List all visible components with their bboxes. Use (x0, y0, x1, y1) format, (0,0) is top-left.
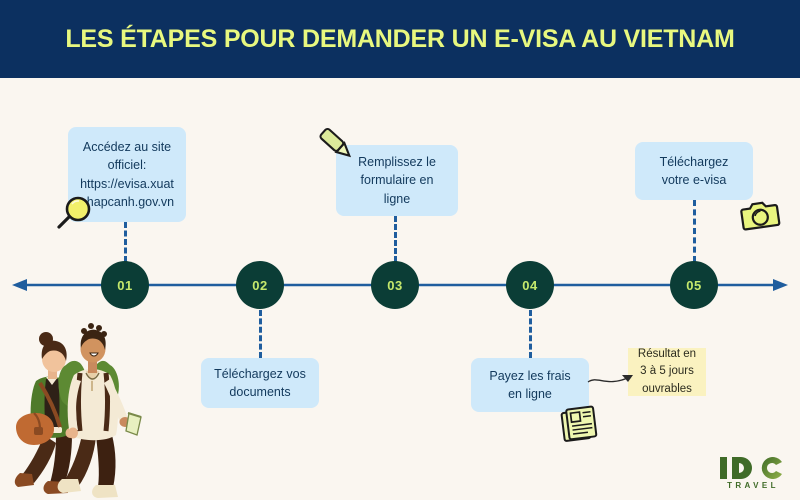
result-callout-note: Résultat en 3 à 5 jours ouvrables (628, 348, 706, 396)
result-callout-text: Résultat en 3 à 5 jours ouvrables (636, 346, 698, 398)
two-travelers-illustration (4, 315, 154, 500)
newspaper-icon (559, 403, 603, 447)
logo-tagline: TRAVEL (720, 481, 786, 490)
step-box-05-label: Téléchargez votre e-visa (645, 153, 743, 189)
node-number-01: 01 (117, 278, 132, 293)
node-number-03: 03 (387, 278, 402, 293)
infographic-canvas: LES ÉTAPES POUR DEMANDER UN E-VISA AU VI… (0, 0, 800, 500)
node-number-05: 05 (686, 278, 701, 293)
node-number-02: 02 (252, 278, 267, 293)
connector-step-4 (529, 310, 532, 358)
node-number-04: 04 (522, 278, 537, 293)
connector-step-5 (693, 200, 696, 262)
step-box-05[interactable]: Téléchargez votre e-visa (635, 142, 753, 200)
header-banner: LES ÉTAPES POUR DEMANDER UN E-VISA AU VI… (0, 0, 800, 78)
callout-arrow-icon (586, 366, 636, 392)
timeline-node-02[interactable]: 02 (236, 261, 284, 309)
connector-step-2 (259, 310, 262, 358)
step-box-03-label: Remplissez le formulaire en ligne (346, 153, 448, 207)
axis-arrow-left-icon (12, 279, 27, 291)
axis-arrow-right-icon (773, 279, 788, 291)
page-title: LES ÉTAPES POUR DEMANDER UN E-VISA AU VI… (65, 25, 734, 54)
connector-step-1 (124, 222, 127, 262)
timeline-node-05[interactable]: 05 (670, 261, 718, 309)
step-box-04-label: Payez les frais en ligne (481, 367, 579, 403)
timeline-node-01[interactable]: 01 (101, 261, 149, 309)
pencil-icon (314, 124, 358, 166)
brand-logo[interactable]: TRAVEL (718, 454, 786, 490)
timeline-node-04[interactable]: 04 (506, 261, 554, 309)
idc-logo-icon (718, 454, 786, 482)
timeline-node-03[interactable]: 03 (371, 261, 419, 309)
step-box-02[interactable]: Téléchargez vos documents (201, 358, 319, 408)
connector-step-3 (394, 216, 397, 262)
step-box-02-label: Téléchargez vos documents (211, 365, 309, 401)
camera-icon (738, 193, 786, 237)
magnifier-icon (50, 192, 96, 236)
